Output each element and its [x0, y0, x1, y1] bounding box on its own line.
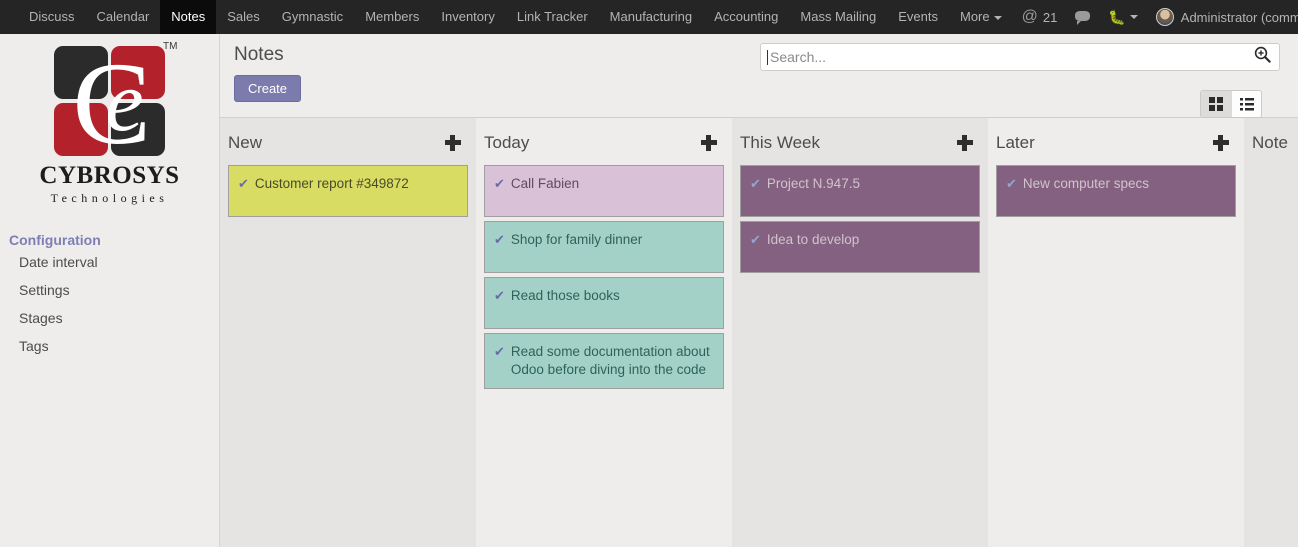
top-navigation-bar: DiscussCalendarNotesSalesGymnasticMember…	[0, 0, 1298, 34]
kanban-card[interactable]: ✔New computer specs	[996, 165, 1236, 217]
chevron-down-icon	[994, 16, 1002, 20]
app-menu-item-gymnastic[interactable]: Gymnastic	[271, 0, 354, 34]
user-menu[interactable]: Administrator (commun…	[1147, 0, 1298, 34]
plus-icon[interactable]	[1213, 135, 1229, 151]
app-menu-item-discuss[interactable]: Discuss	[18, 0, 86, 34]
view-switcher	[1200, 90, 1262, 118]
kanban-card[interactable]: ✔Idea to develop	[740, 221, 980, 273]
app-menu-item-link-tracker[interactable]: Link Tracker	[506, 0, 599, 34]
kanban-card-title: Customer report #349872	[255, 175, 409, 193]
kanban-card[interactable]: ✔Read some documentation about Odoo befo…	[484, 333, 724, 389]
search-area	[760, 43, 1280, 71]
control-panel: Notes Create	[220, 34, 1298, 118]
sidebar-item-tags[interactable]: Tags	[0, 332, 219, 360]
app-menu-item-inventory[interactable]: Inventory	[430, 0, 505, 34]
sidebar-item-stages[interactable]: Stages	[0, 304, 219, 332]
kanban-column-title: Note	[1252, 133, 1288, 153]
systray: @ 21 🐛 Administrator (commun…	[1013, 0, 1298, 34]
app-menu-item-members[interactable]: Members	[354, 0, 430, 34]
kanban-card[interactable]: ✔Read those books	[484, 277, 724, 329]
kanban-card-title: Project N.947.5	[767, 175, 860, 193]
app-menu-item-label: Gymnastic	[282, 9, 343, 24]
app-menu-item-label: Manufacturing	[610, 9, 692, 24]
kanban-column-title: Today	[484, 133, 529, 153]
app-menu-item-accounting[interactable]: Accounting	[703, 0, 789, 34]
logo-company-name: CYBROSYS	[39, 162, 179, 190]
kanban-column-title: Later	[996, 133, 1035, 153]
plus-icon[interactable]	[957, 135, 973, 151]
kanban-view-button[interactable]	[1201, 91, 1231, 117]
app-menu-item-mass-mailing[interactable]: Mass Mailing	[789, 0, 887, 34]
debug-menu-button[interactable]: 🐛	[1099, 0, 1146, 34]
app-menu-item-label: Accounting	[714, 9, 778, 24]
check-icon[interactable]: ✔	[494, 176, 505, 192]
create-button[interactable]: Create	[234, 75, 301, 102]
sidebar: C e TM CYBROSYS Technologies Configurati…	[0, 34, 220, 547]
kanban-card[interactable]: ✔Shop for family dinner	[484, 221, 724, 273]
search-box[interactable]	[760, 43, 1280, 71]
app-menu-item-more[interactable]: More	[949, 0, 1013, 34]
check-icon[interactable]: ✔	[494, 288, 505, 304]
check-icon[interactable]: ✔	[750, 232, 761, 248]
mentions-count: 21	[1043, 10, 1057, 25]
app-menu-item-label: Sales	[227, 9, 260, 24]
kanban-card-title: Call Fabien	[511, 175, 579, 193]
kanban-column-today: Today✔Call Fabien✔Shop for family dinner…	[476, 118, 732, 547]
list-view-button[interactable]	[1231, 91, 1261, 117]
sidebar-item-label: Settings	[19, 282, 70, 298]
app-menu-item-label: Inventory	[441, 9, 494, 24]
chat-bubble-icon	[1075, 11, 1090, 23]
app-menu-item-label: Events	[898, 9, 938, 24]
check-icon[interactable]: ✔	[494, 232, 505, 248]
app-menu-item-label: More	[960, 9, 990, 24]
app-menu-item-label: Calendar	[97, 9, 150, 24]
at-icon: @	[1022, 9, 1038, 25]
logo-mark-icon: C e TM	[51, 46, 169, 158]
logo-letter-e: e	[99, 64, 151, 138]
sidebar-item-label: Tags	[19, 338, 49, 354]
mentions-indicator[interactable]: @ 21	[1013, 0, 1067, 34]
bug-icon: 🐛	[1108, 10, 1125, 24]
kanban-card-title: Idea to develop	[767, 231, 859, 249]
kanban-card-title: New computer specs	[1023, 175, 1149, 193]
check-icon[interactable]: ✔	[1006, 176, 1017, 192]
app-menu-item-sales[interactable]: Sales	[216, 0, 271, 34]
kanban-card-title: Read some documentation about Odoo befor…	[511, 343, 713, 379]
messages-button[interactable]	[1066, 0, 1099, 34]
search-input[interactable]	[768, 45, 1254, 69]
app-menu-item-notes[interactable]: Notes	[160, 0, 216, 34]
kanban-column-new: New✔Customer report #349872	[220, 118, 476, 547]
trademark-symbol: TM	[163, 41, 177, 52]
kanban-column-title: This Week	[740, 133, 820, 153]
user-name: Administrator (commun…	[1181, 10, 1298, 25]
kanban-board: New✔Customer report #349872Today✔Call Fa…	[220, 118, 1298, 547]
app-menu-item-manufacturing[interactable]: Manufacturing	[599, 0, 703, 34]
sidebar-section-configuration: Configuration	[0, 232, 219, 248]
app-menu: DiscussCalendarNotesSalesGymnasticMember…	[18, 0, 1013, 34]
sidebar-item-settings[interactable]: Settings	[0, 276, 219, 304]
kanban-column-header: Later	[996, 118, 1236, 165]
kanban-column-header: This Week	[740, 118, 980, 165]
search-plus-icon[interactable]	[1254, 46, 1271, 68]
app-menu-item-calendar[interactable]: Calendar	[86, 0, 161, 34]
company-logo: C e TM CYBROSYS Technologies	[0, 46, 219, 206]
sidebar-item-date-interval[interactable]: Date interval	[0, 248, 219, 276]
kanban-card[interactable]: ✔Project N.947.5	[740, 165, 980, 217]
kanban-column-later: Later✔New computer specs	[988, 118, 1244, 547]
kanban-card-title: Read those books	[511, 287, 620, 305]
kanban-card[interactable]: ✔Call Fabien	[484, 165, 724, 217]
plus-icon[interactable]	[445, 135, 461, 151]
kanban-card-title: Shop for family dinner	[511, 231, 642, 249]
chevron-down-icon	[1130, 15, 1138, 19]
logo-tagline: Technologies	[51, 191, 169, 206]
kanban-column-header: New	[228, 118, 468, 165]
check-icon[interactable]: ✔	[238, 176, 249, 192]
kanban-column-header: Note	[1252, 118, 1298, 165]
sidebar-item-label: Date interval	[19, 254, 98, 270]
check-icon[interactable]: ✔	[750, 176, 761, 192]
app-menu-item-label: Notes	[171, 9, 205, 24]
app-menu-item-label: Discuss	[29, 9, 75, 24]
sidebar-item-label: Stages	[19, 310, 63, 326]
kanban-column-header: Today	[484, 118, 724, 165]
kanban-card[interactable]: ✔Customer report #349872	[228, 165, 468, 217]
app-menu-item-events[interactable]: Events	[887, 0, 949, 34]
main-content: Notes Create	[220, 34, 1298, 547]
kanban-column-note: Note	[1244, 118, 1298, 547]
check-icon[interactable]: ✔	[494, 344, 505, 360]
app-menu-item-label: Link Tracker	[517, 9, 588, 24]
kanban-column-this-week: This Week✔Project N.947.5✔Idea to develo…	[732, 118, 988, 547]
app-menu-item-label: Mass Mailing	[800, 9, 876, 24]
plus-icon[interactable]	[701, 135, 717, 151]
kanban-column-title: New	[228, 133, 262, 153]
avatar	[1156, 8, 1174, 26]
sidebar-menu: Date intervalSettingsStagesTags	[0, 248, 219, 360]
app-menu-item-label: Members	[365, 9, 419, 24]
